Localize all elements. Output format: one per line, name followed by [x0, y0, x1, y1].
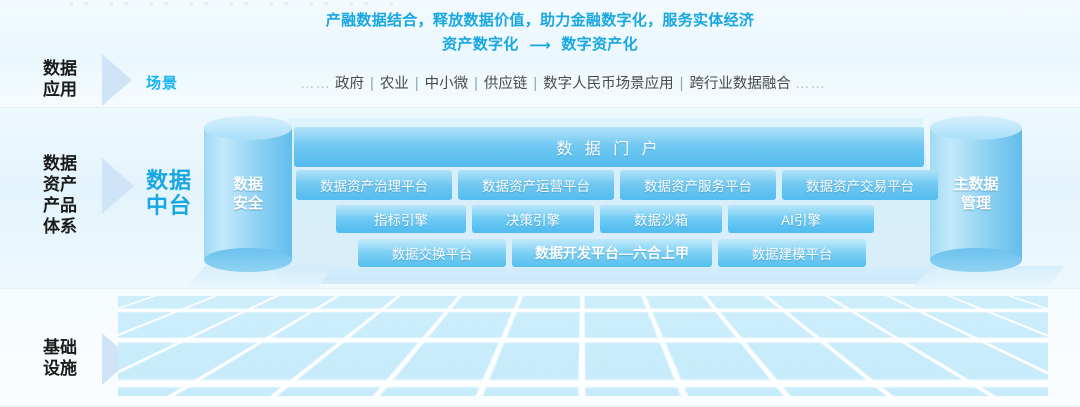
arrow-data-asset-system	[102, 158, 134, 214]
stack-floor-slab	[282, 268, 932, 284]
arrow-data-application	[102, 54, 132, 106]
card-icon	[770, 359, 790, 374]
infra-item-docker[interactable]: Docker	[290, 313, 367, 330]
infra-item-other-resource[interactable]: 其他资源	[770, 355, 859, 377]
disk-icon	[618, 369, 636, 385]
box-data-sandbox[interactable]: 数据沙箱	[600, 205, 722, 233]
whale-icon	[290, 314, 312, 330]
scenario-leading-dots: ……	[300, 76, 331, 92]
box-data-portal[interactable]: 数 据 门 户	[294, 127, 924, 167]
box-data-asset-trading-platform[interactable]: 数据资产交易平台	[782, 170, 938, 200]
infra-item-yarn[interactable]: Yarn	[700, 323, 760, 340]
infra-item-kubernetes[interactable]: Kubernetes	[430, 327, 534, 344]
card-icon	[822, 313, 844, 328]
scenario-item-5[interactable]: 跨行业数据融合	[689, 76, 791, 92]
headline-line2-right: 数字资产化	[561, 36, 638, 53]
box-data-asset-governance-platform[interactable]: 数据资产治理平台	[296, 170, 452, 200]
infra-label-network-resource: 网络资源	[502, 369, 564, 391]
infra-item-compute-resource[interactable]: 计算资源	[338, 355, 425, 377]
infra-label-yarn: Yarn	[729, 323, 760, 340]
cylinder-label-data-security: 数据 安全	[204, 175, 292, 213]
divider-application-asset	[0, 107, 1080, 108]
headline: 产融数据结合，释放数据价值，助力金融数字化，服务实体经济 资产数字化 ⟶ 数字资…	[0, 10, 1080, 56]
cylinder-data-security[interactable]: 数据 安全	[204, 116, 292, 272]
headline-line-2: 资产数字化 ⟶ 数字资产化	[0, 34, 1080, 56]
server-icon	[338, 358, 356, 375]
headline-line-1: 产融数据结合，释放数据价值，助力金融数字化，服务实体经济	[326, 12, 754, 29]
infra-label-compute-resource: 计算资源	[363, 355, 425, 377]
infra-label-storage-resource: 存储资源	[643, 366, 705, 388]
infra-label-kubernetes: Kubernetes	[457, 327, 534, 344]
box-data-exchange-platform[interactable]: 数据交换平台	[358, 239, 506, 267]
box-decision-engine[interactable]: 决策引擎	[472, 205, 594, 233]
headline-line2-left: 资产数字化	[442, 36, 519, 53]
globe-icon	[478, 372, 495, 389]
infographic-canvas: 产融数据结合，释放数据价值，助力金融数字化，服务实体经济 资产数字化 ⟶ 数字资…	[0, 0, 1080, 407]
scenario-label: 场景	[146, 72, 178, 93]
infra-item-storage-resource[interactable]: 存储资源	[618, 366, 705, 388]
cylinder-master-data-management[interactable]: 主数据 管理	[930, 116, 1022, 272]
grid-fade-overlay	[118, 296, 1048, 396]
scenario-item-0[interactable]: 政府	[335, 76, 364, 92]
data-middle-platform-label: 数据 中台	[138, 168, 200, 218]
scenario-sep-1: |	[409, 76, 425, 92]
box-data-modeling-platform[interactable]: 数据建模平台	[718, 239, 866, 267]
box-data-development-platform[interactable]: 数据开发平台—六合上甲	[512, 239, 712, 267]
box-metric-engine[interactable]: 指标引擎	[336, 205, 466, 233]
infra-label-mesos: Mesos	[851, 312, 895, 329]
infrastructure-grid	[118, 296, 1048, 396]
cylinder-top	[930, 116, 1022, 140]
section-label-data-application: 数据 应用	[28, 58, 92, 100]
scenario-item-2[interactable]: 中小微	[425, 76, 469, 92]
infra-label-docker: Docker	[319, 313, 367, 330]
section-label-infrastructure: 基础 设施	[28, 337, 92, 379]
scenario-item-4[interactable]: 数字人民币场景应用	[543, 76, 674, 92]
scenario-item-3[interactable]: 供应链	[484, 76, 528, 92]
bars-icon	[700, 324, 722, 339]
cylinder-label-master-data: 主数据 管理	[930, 175, 1022, 213]
scenario-sep-3: |	[527, 76, 543, 92]
infra-item-network-resource[interactable]: 网络资源	[478, 369, 564, 391]
box-data-asset-operation-platform[interactable]: 数据资产运营平台	[458, 170, 614, 200]
section-label-data-asset-system: 数据 资产 产品 体系	[28, 153, 92, 237]
cylinder-bottom	[930, 248, 1022, 272]
box-data-asset-service-platform[interactable]: 数据资产服务平台	[620, 170, 776, 200]
infra-label-other-resource: 其他资源	[797, 355, 859, 377]
infra-item-mesos[interactable]: Mesos	[822, 312, 895, 329]
scenario-list: …… 政府|农业|中小微|供应链|数字人民币场景应用|跨行业数据融合 ……	[300, 72, 900, 93]
divider-asset-infrastructure	[0, 288, 1080, 289]
scenario-sep-4: |	[674, 76, 690, 92]
cylinder-bottom	[204, 248, 292, 272]
box-ai-engine[interactable]: AI引擎	[728, 205, 874, 233]
right-arrow-icon: ⟶	[523, 35, 557, 56]
scenario-trailing-dots: ……	[795, 76, 826, 92]
scenario-item-1[interactable]: 农业	[380, 76, 409, 92]
scenario-sep-0: |	[364, 76, 380, 92]
helm-icon	[430, 328, 450, 344]
cylinder-top	[204, 116, 292, 140]
top-edge-artifact	[70, 2, 400, 5]
scenario-sep-2: |	[468, 76, 484, 92]
